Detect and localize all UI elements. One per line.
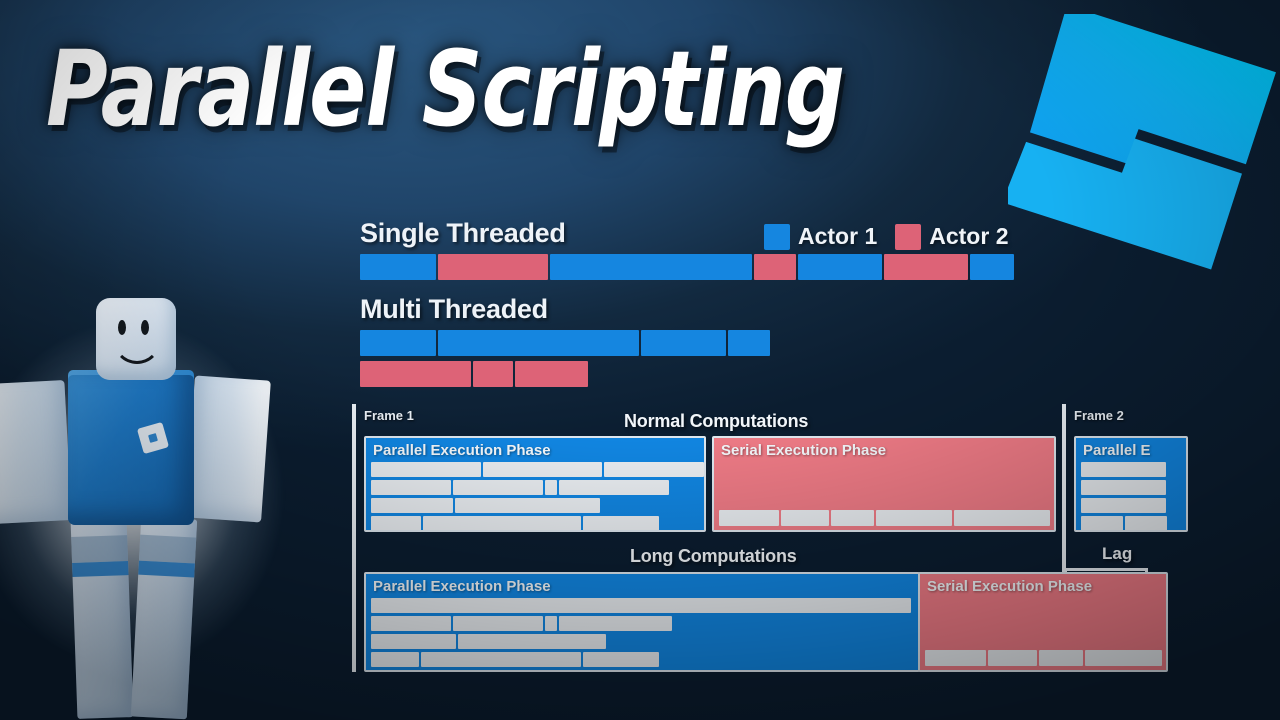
roblox-logo-icon — [1008, 14, 1276, 272]
avatar-smile — [113, 334, 161, 364]
multi-thread-actor1-segment — [641, 330, 726, 356]
multi-threaded-title: Multi Threaded — [360, 294, 1020, 325]
frame-timeline-diagram: Frame 1 Frame 2 Normal Computations Para… — [352, 404, 1280, 674]
long-parallel-phase-box: Parallel Execution Phase — [364, 572, 920, 672]
lag-label: Lag — [1102, 544, 1132, 564]
single-thread-segment — [438, 254, 548, 280]
normal-parallel-task — [453, 480, 543, 495]
normal-parallel-task — [455, 498, 600, 513]
multi-thread-actor2-segment — [360, 361, 471, 387]
normal-parallel-task — [483, 462, 603, 477]
normal-parallel-row — [371, 498, 704, 513]
normal-parallel-phase-box: Parallel Execution Phase — [364, 436, 706, 532]
single-threaded-bar — [360, 254, 1020, 280]
single-thread-segment — [360, 254, 436, 280]
long-parallel-task — [371, 634, 456, 649]
long-parallel-task — [559, 616, 672, 631]
legend-swatch-actor-2 — [895, 224, 921, 250]
avatar-left-leg — [71, 517, 134, 719]
leg-stripe — [138, 561, 195, 578]
roblox-avatar — [0, 270, 340, 720]
long-parallel-task — [371, 652, 419, 667]
long-parallel-task — [458, 634, 606, 649]
normal-serial-task — [831, 510, 874, 526]
normal-serial-task — [876, 510, 951, 526]
multi-thread-actor2-segment — [515, 361, 588, 387]
avatar-right-leg — [131, 517, 197, 720]
avatar-right-eye — [141, 320, 149, 335]
frame-1-divider — [352, 404, 356, 672]
legend-label-actor-1: Actor 1 — [798, 223, 877, 250]
page-title: Parallel Scripting — [46, 28, 844, 150]
frame-1-label: Frame 1 — [364, 408, 414, 423]
long-parallel-phase-label: Parallel Execution Phase — [366, 574, 918, 598]
normal-serial-task — [781, 510, 829, 526]
multi-thread-actor2-segment — [473, 361, 513, 387]
long-serial-task — [1039, 650, 1083, 666]
long-serial-task-strip — [920, 650, 1166, 666]
single-thread-segment — [798, 254, 882, 280]
legend-label-actor-2: Actor 2 — [929, 223, 1008, 250]
leg-shade — [71, 535, 128, 563]
normal-computations-title: Normal Computations — [624, 411, 808, 432]
long-parallel-row — [371, 616, 918, 631]
multi-threaded-bar-actor-2 — [360, 361, 1020, 387]
shirt-roblox-icon — [137, 422, 169, 454]
single-thread-segment — [550, 254, 752, 280]
normal-parallel-task — [371, 516, 421, 531]
long-parallel-row — [371, 598, 918, 613]
multi-thread-actor1-segment — [728, 330, 770, 356]
normal-parallel-task — [371, 462, 481, 477]
frame2-parallel-task — [1081, 462, 1166, 477]
frame2-parallel-task — [1081, 498, 1166, 513]
frame2-parallel-row — [1081, 462, 1186, 477]
avatar-torso — [68, 375, 194, 525]
thread-comparison: Actor 1 Actor 2 Single Threaded Multi Th… — [360, 218, 1020, 387]
normal-parallel-row — [371, 480, 704, 495]
frame-2-label: Frame 2 — [1074, 408, 1124, 423]
single-thread-segment — [754, 254, 796, 280]
leg-shade — [139, 535, 196, 564]
normal-parallel-phase-label: Parallel Execution Phase — [366, 438, 704, 462]
thumbnail-canvas: Parallel Scripting Actor 1 Actor 2 Singl… — [0, 0, 1280, 720]
normal-serial-phase-label: Serial Execution Phase — [714, 438, 1054, 462]
long-serial-task — [925, 650, 986, 666]
legend-swatch-actor-1 — [764, 224, 790, 250]
long-parallel-task — [545, 616, 557, 631]
frame2-parallel-row — [1081, 480, 1186, 495]
normal-parallel-task — [559, 480, 669, 495]
multi-thread-actor1-segment — [360, 330, 436, 356]
avatar-head — [96, 298, 176, 380]
long-serial-task — [1085, 650, 1162, 666]
frame2-parallel-task — [1081, 480, 1166, 495]
single-thread-segment — [884, 254, 968, 280]
long-serial-phase-box: Serial Execution Phase — [918, 572, 1168, 672]
multi-thread-actor1-segment — [438, 330, 639, 356]
long-parallel-task — [453, 616, 543, 631]
long-parallel-row — [371, 634, 918, 649]
normal-parallel-task — [545, 480, 557, 495]
normal-parallel-row — [371, 462, 704, 477]
long-computations-title: Long Computations — [630, 546, 797, 567]
frame2-parallel-row — [1081, 516, 1186, 531]
normal-serial-task — [954, 510, 1050, 526]
normal-parallel-task — [371, 498, 453, 513]
avatar-left-eye — [118, 320, 126, 335]
avatar-right-arm — [185, 376, 271, 523]
frame2-parallel-phase-box: Parallel E — [1074, 436, 1188, 532]
frame2-parallel-task — [1081, 516, 1123, 531]
frame2-parallel-phase-label: Parallel E — [1076, 438, 1186, 462]
long-parallel-task — [421, 652, 581, 667]
long-parallel-task — [583, 652, 659, 667]
legend: Actor 1 Actor 2 — [764, 223, 1019, 250]
normal-serial-task — [719, 510, 779, 526]
normal-parallel-task-rows — [366, 462, 704, 532]
normal-parallel-task — [604, 462, 704, 477]
multi-threaded-bar-actor-1 — [360, 330, 1020, 356]
frame2-parallel-task-rows — [1076, 462, 1186, 532]
long-serial-phase-label: Serial Execution Phase — [920, 574, 1166, 598]
normal-serial-task-strip — [714, 510, 1054, 526]
normal-parallel-task — [583, 516, 659, 531]
normal-parallel-row — [371, 516, 704, 531]
long-parallel-task — [371, 598, 911, 613]
normal-parallel-task — [371, 480, 451, 495]
avatar-left-arm — [0, 380, 72, 524]
frame2-parallel-row — [1081, 498, 1186, 513]
long-parallel-task — [371, 616, 451, 631]
frame2-parallel-task — [1125, 516, 1167, 531]
normal-serial-phase-box: Serial Execution Phase — [712, 436, 1056, 532]
single-thread-segment — [970, 254, 1014, 280]
long-parallel-task-rows — [366, 598, 918, 672]
long-serial-task — [988, 650, 1037, 666]
normal-parallel-task — [423, 516, 581, 531]
leg-stripe — [72, 561, 128, 577]
long-parallel-row — [371, 652, 918, 667]
